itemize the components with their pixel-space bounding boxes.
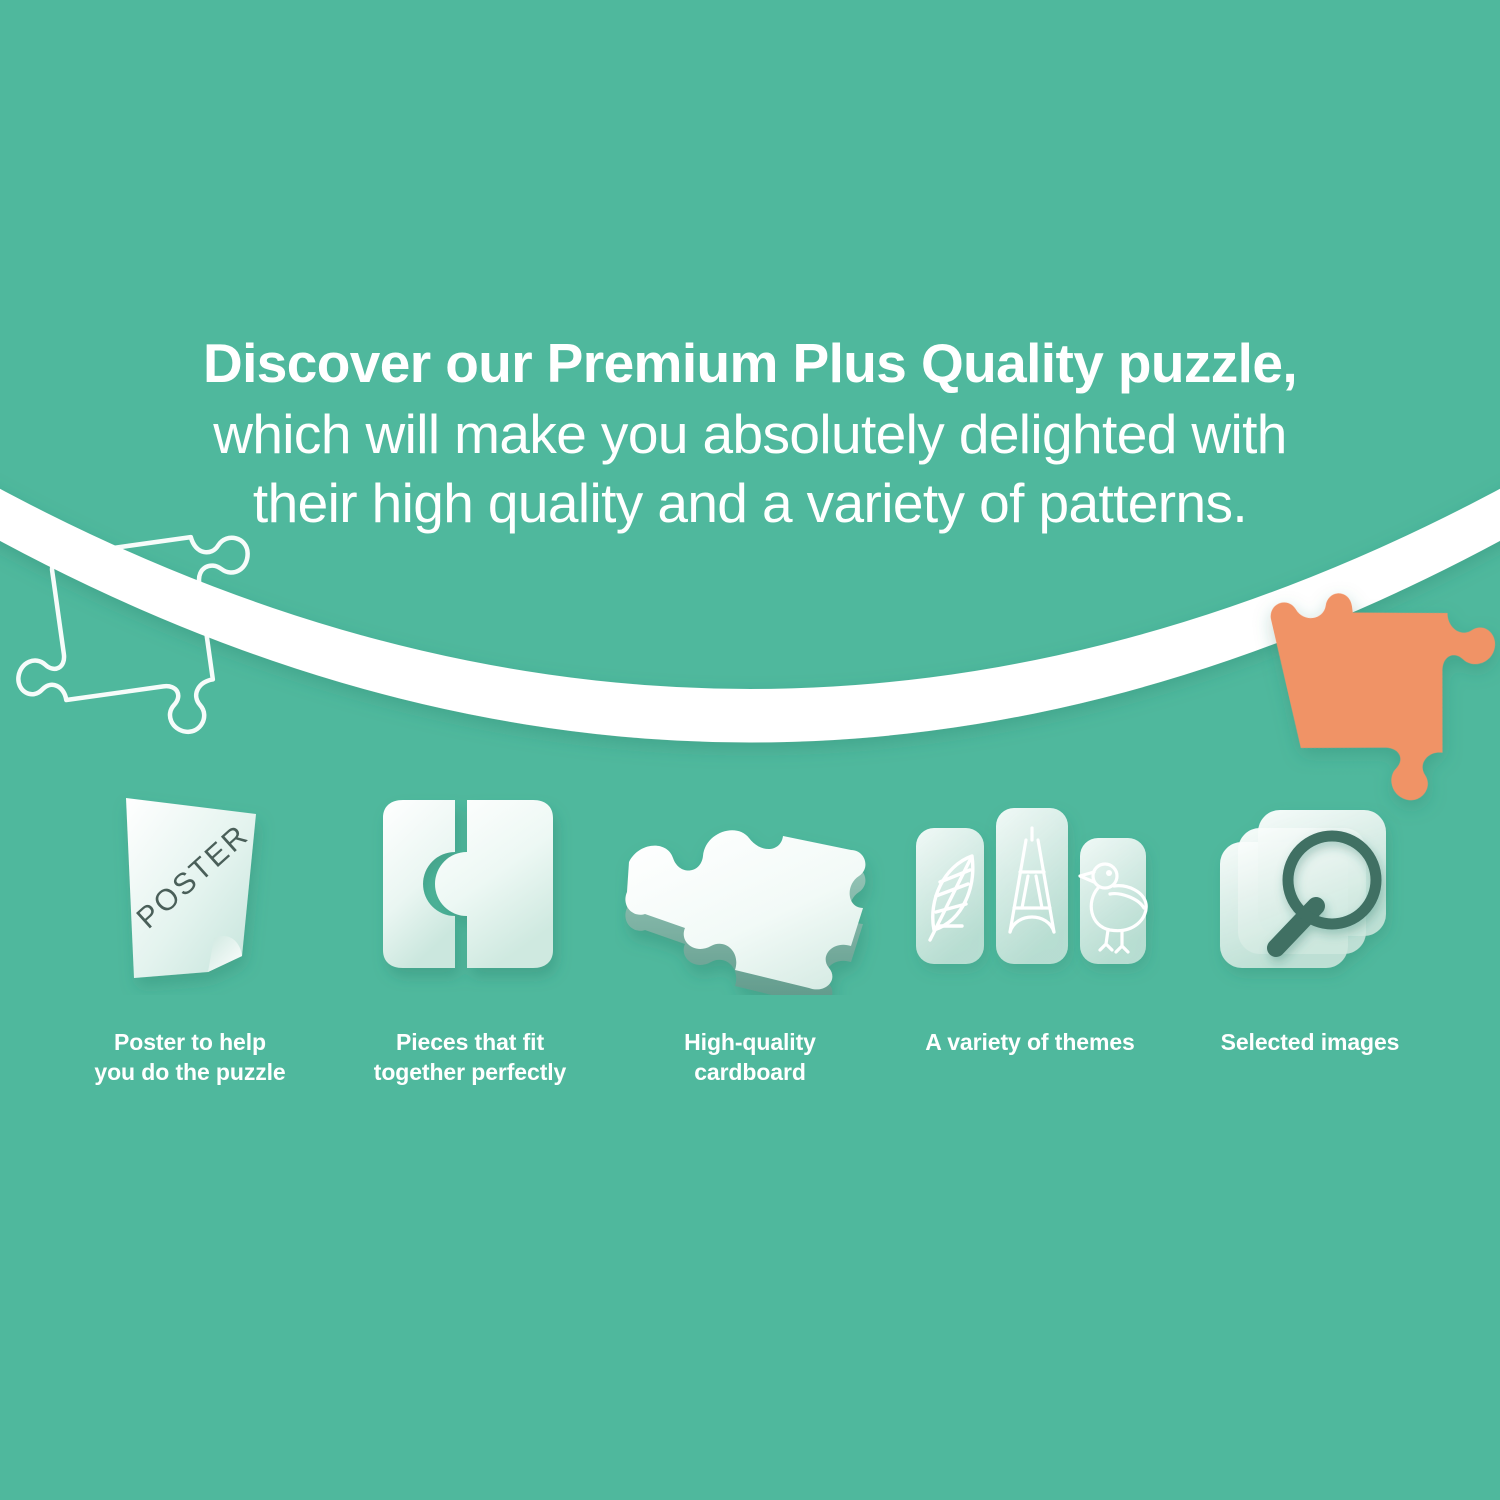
image-stack: [1220, 810, 1386, 968]
feature-cardboard: High-quality cardboard: [610, 780, 890, 1088]
theme-cards-icon: [900, 780, 1160, 995]
cardboard-art: [610, 780, 890, 995]
feature-label-selected-images: Selected images: [1221, 1027, 1400, 1057]
outline-puzzle-piece: [2, 530, 271, 755]
poster-art: POSTER: [50, 780, 330, 995]
theme-card-bird: [1080, 838, 1146, 964]
headline-line-1: Discover our Premium Plus Quality puzzle…: [0, 336, 1500, 391]
orange-puzzle-piece: [1269, 575, 1500, 814]
interlocking-art: [330, 780, 610, 995]
decorative-layer: [0, 0, 1500, 1500]
interlocking-pieces-icon: [363, 780, 578, 995]
feature-label-cardboard: High-quality cardboard: [684, 1027, 816, 1088]
feature-poster: POSTER Poster to help you do the puzzle: [50, 780, 330, 1088]
feature-label-poster: Poster to help you do the puzzle: [94, 1027, 285, 1088]
feature-selected-images: Selected images: [1170, 780, 1450, 1057]
feature-label-themes: A variety of themes: [925, 1027, 1134, 1057]
feature-interlocking: Pieces that fit together perfectly: [330, 780, 610, 1088]
image-stack-magnifier-icon: [1200, 780, 1420, 995]
feature-list: POSTER Poster to help you do the puzzle: [0, 780, 1500, 1088]
feature-themes: A variety of themes: [890, 780, 1170, 1057]
headline-line-2: which will make you absolutely delighted…: [0, 407, 1500, 462]
headline-line-3: their high quality and a variety of patt…: [0, 476, 1500, 531]
themes-art: [890, 780, 1170, 995]
poster-icon: POSTER: [90, 780, 290, 995]
puzzle-piece-3d-icon: [615, 780, 885, 995]
headline: Discover our Premium Plus Quality puzzle…: [0, 336, 1500, 545]
selected-images-art: [1170, 780, 1450, 995]
promo-banner: Discover our Premium Plus Quality puzzle…: [0, 0, 1500, 1500]
feature-label-interlocking: Pieces that fit together perfectly: [374, 1027, 566, 1088]
theme-card-leaf: [916, 828, 984, 964]
theme-card-eiffel: [996, 808, 1068, 964]
